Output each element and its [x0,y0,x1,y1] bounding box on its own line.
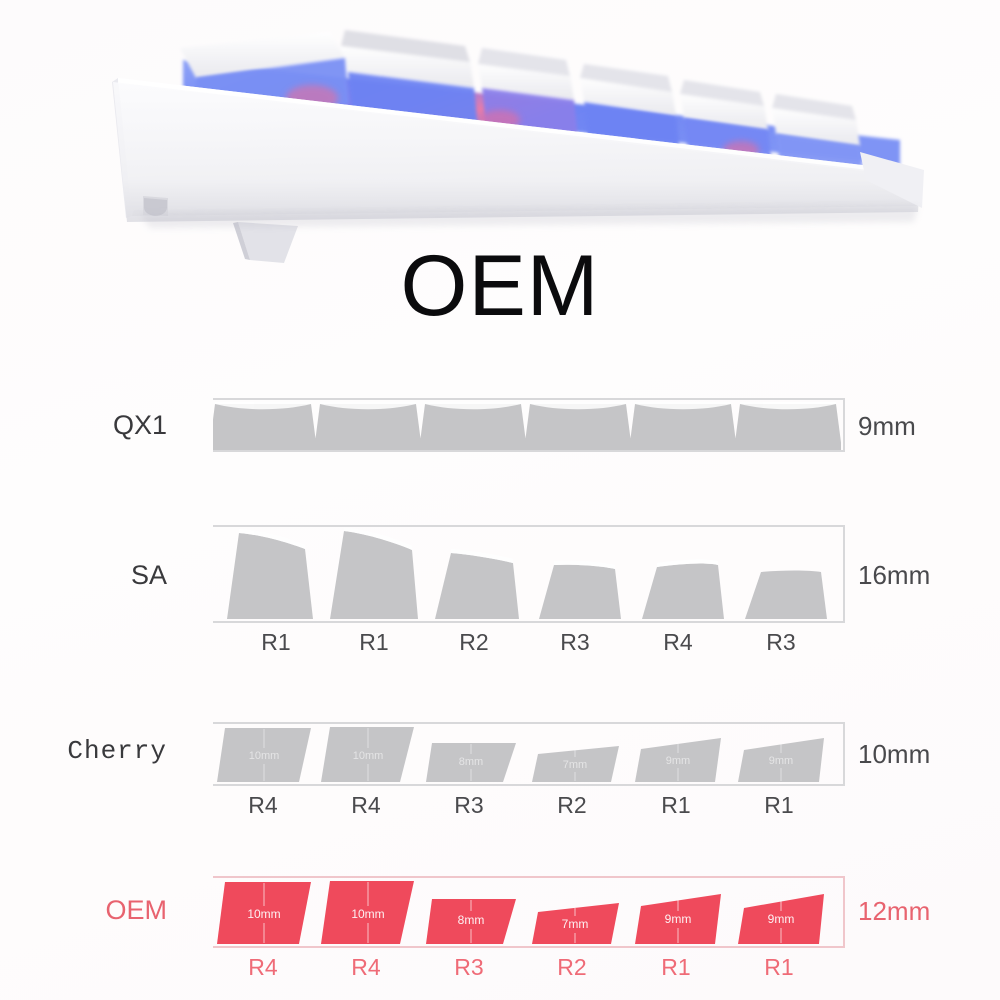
tick-cherry-2: R3 [424,792,514,819]
tick-cherry-0: R4 [218,792,308,819]
inner-label-cherry-5: 9mm [769,755,793,767]
tick-cherry-1: R4 [321,792,411,819]
inner-label-oem-2: 8mm [458,913,485,927]
profile-label-oem: OEM [0,895,167,926]
tick-sa-1: R1 [329,629,419,656]
inner-label-cherry-4: 9mm [666,755,690,767]
tick-sa-0: R1 [231,629,321,656]
profile-label-sa: SA [0,560,167,591]
tick-sa-5: R3 [736,629,826,656]
inner-label-cherry-0: 10mm [249,750,280,762]
profile-label-qx1: QX1 [0,410,167,441]
tick-oem-5: R1 [734,954,824,981]
inner-label-oem-4: 9mm [665,912,692,926]
profile-band-sa [213,525,845,623]
tick-sa-4: R4 [633,629,723,656]
profile-band-qx1 [213,398,845,452]
page-title: OEM [0,243,1000,329]
profile-ticks-oem: R4 R4 R3 R2 R1 R1 [213,954,845,984]
inner-label-cherry-2: 8mm [459,756,483,768]
inner-label-oem-1: 10mm [351,907,384,921]
keycap-shapes-sa [213,527,841,621]
keycap-shapes-oem: 10mm 10mm 8mm 7mm 9mm 9mm [213,878,841,946]
keycap-profile-infographic: OEM QX1 [0,0,1000,1000]
tick-cherry-3: R2 [527,792,617,819]
inner-label-oem-3: 7mm [562,917,589,931]
profile-ticks-sa: R1 R1 R2 R3 R4 R3 [213,629,845,659]
profile-height-sa: 16mm [858,560,930,591]
tick-oem-2: R3 [424,954,514,981]
tick-oem-4: R1 [631,954,721,981]
tick-oem-1: R4 [321,954,411,981]
tick-cherry-4: R1 [631,792,721,819]
profile-band-cherry: 10mm 10mm 8mm 7mm 9mm 9mm [213,722,845,786]
keyboard-photo [0,0,1000,270]
profile-label-cherry: Cherry [0,736,167,766]
tick-sa-3: R3 [530,629,620,656]
tick-sa-2: R2 [429,629,519,656]
tick-oem-0: R4 [218,954,308,981]
profile-ticks-cherry: R4 R4 R3 R2 R1 R1 [213,792,845,822]
profile-height-oem: 12mm [858,896,930,927]
tick-cherry-5: R1 [734,792,824,819]
profile-band-oem: 10mm 10mm 8mm 7mm 9mm 9mm [213,876,845,948]
tick-oem-3: R2 [527,954,617,981]
inner-label-cherry-1: 10mm [353,750,384,762]
inner-label-cherry-3: 7mm [563,759,587,771]
keycap-shapes-qx1 [213,400,841,450]
keycap-shapes-cherry: 10mm 10mm 8mm 7mm 9mm 9mm [213,724,841,784]
profile-height-qx1: 9mm [858,411,916,442]
inner-label-oem-0: 10mm [247,907,280,921]
profile-height-cherry: 10mm [858,739,930,770]
inner-label-oem-5: 9mm [768,912,795,926]
